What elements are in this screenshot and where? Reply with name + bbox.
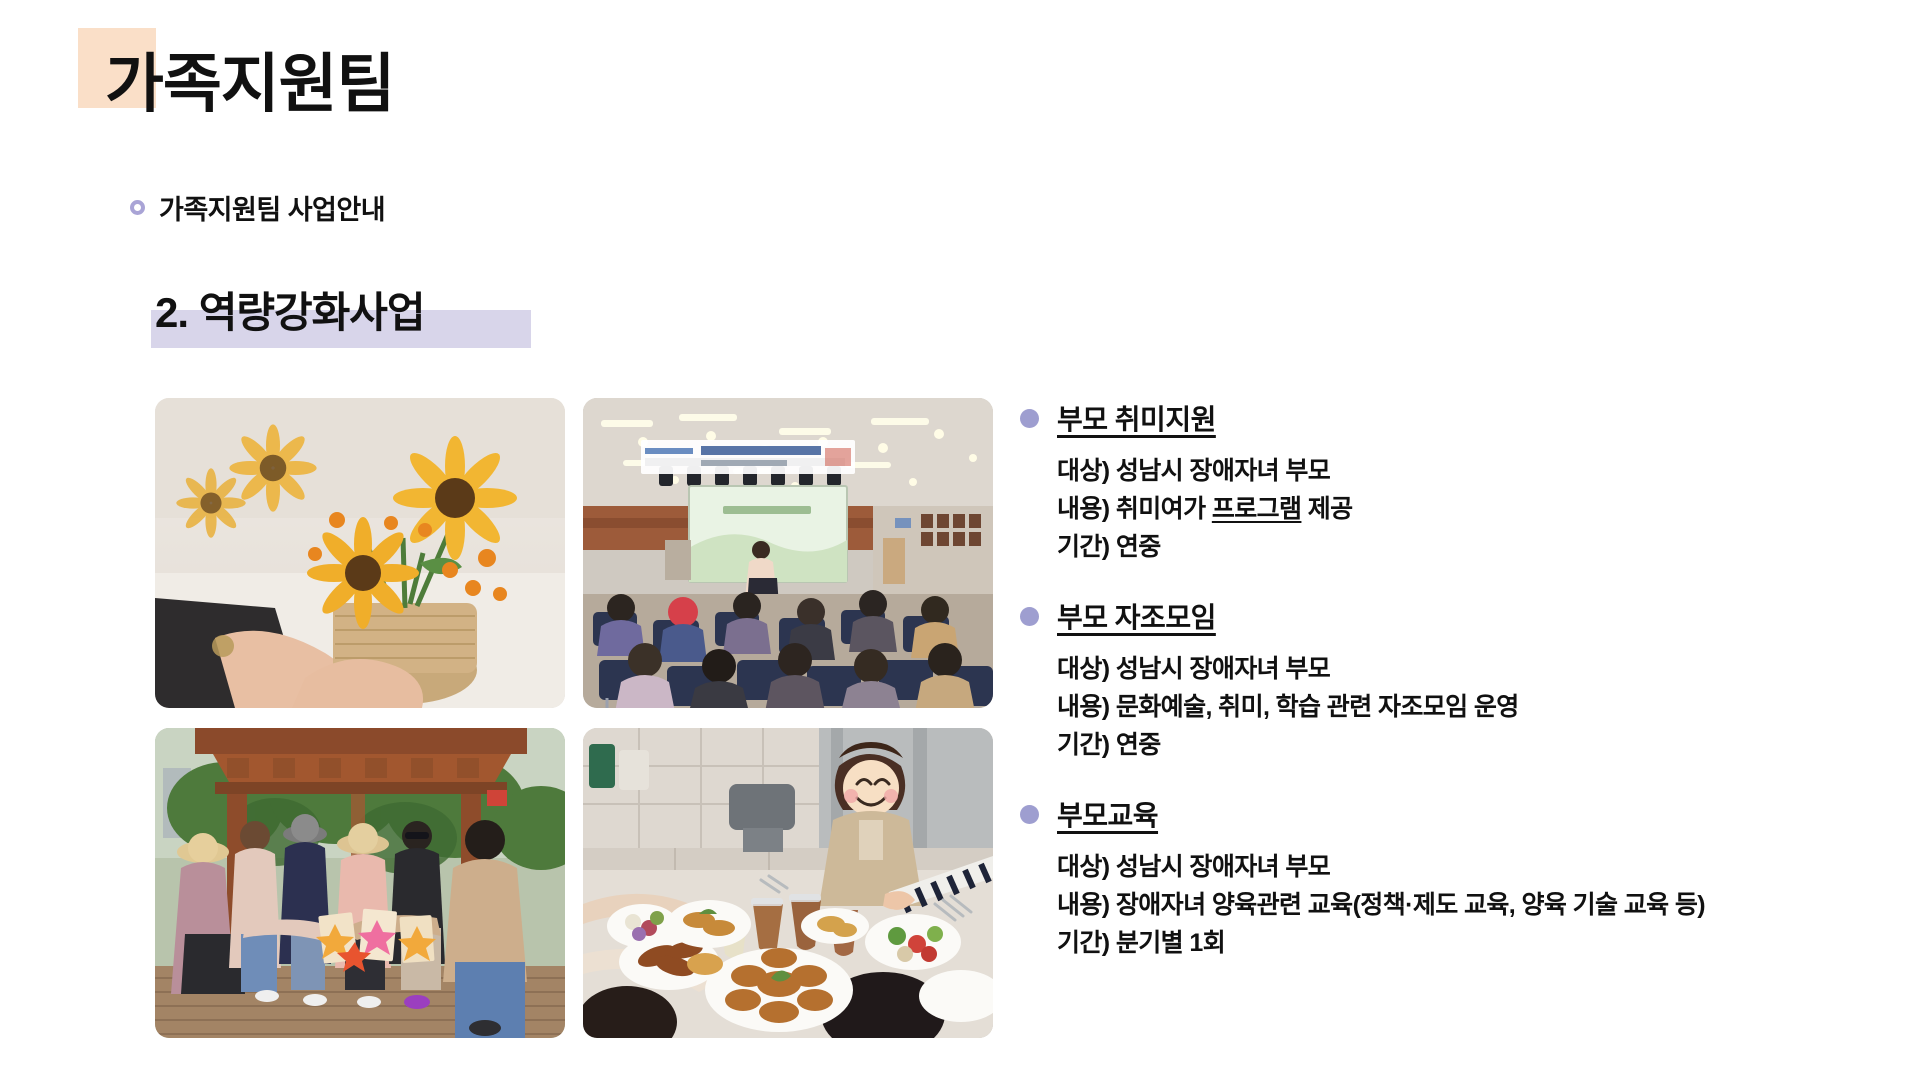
page-title: 가족지원팀 bbox=[105, 51, 394, 118]
program-detail-lines: 대상) 성남시 장애자녀 부모 내용) 장애자녀 양육관련 교육(정책·제도 교… bbox=[1057, 848, 1880, 962]
photo-auditorium-seminar bbox=[583, 398, 993, 708]
program-title: 부모교육 bbox=[1057, 794, 1158, 834]
program-line-target: 대상) 성남시 장애자녀 부모 bbox=[1057, 848, 1880, 886]
program-line-period: 기간) 분기별 1회 bbox=[1057, 924, 1880, 962]
page-subtitle: 가족지원팀 사업안내 bbox=[159, 188, 385, 227]
program-line-content: 내용) 문화예술, 취미, 학습 관련 자조모임 운영 bbox=[1057, 688, 1880, 726]
program-line-content: 내용) 장애자녀 양육관련 교육(정책·제도 교육, 양육 기술 교육 등) bbox=[1057, 886, 1880, 924]
line-suffix: 제공 bbox=[1301, 495, 1352, 523]
program-detail-lines: 대상) 성남시 장애자녀 부모 내용) 문화예술, 취미, 학습 관련 자조모임… bbox=[1057, 650, 1880, 764]
photo-group-meal-gathering bbox=[583, 728, 993, 1038]
program-title: 부모 취미지원 bbox=[1057, 398, 1216, 438]
program-list: 부모 취미지원 대상) 성남시 장애자녀 부모 내용) 취미여가 프로그램 제공… bbox=[1020, 398, 1880, 962]
program-detail-lines: 대상) 성남시 장애자녀 부모 내용) 취미여가 프로그램 제공 기간) 연중 bbox=[1057, 452, 1880, 566]
title-block: 가족지원팀 bbox=[78, 28, 778, 148]
photo-outdoor-pavilion-group-activity bbox=[155, 728, 565, 1038]
line-underlined: 프로그램 bbox=[1212, 495, 1302, 523]
bullet-dot-icon bbox=[1020, 805, 1039, 824]
program-line-period: 기간) 연중 bbox=[1057, 528, 1880, 566]
section-heading: 2. 역량강화사업 bbox=[155, 288, 425, 350]
ring-bullet-icon bbox=[130, 200, 145, 215]
slide-root: 가족지원팀 가족지원팀 사업안내 2. 역량강화사업 bbox=[0, 0, 1920, 1080]
program-line-period: 기간) 연중 bbox=[1057, 726, 1880, 764]
section-title: 2. 역량강화사업 bbox=[155, 288, 425, 338]
photo-sunflower-flower-arranging bbox=[155, 398, 565, 708]
program-header: 부모 자조모임 bbox=[1020, 596, 1880, 636]
program-block-parent-hobby-support: 부모 취미지원 대상) 성남시 장애자녀 부모 내용) 취미여가 프로그램 제공… bbox=[1020, 398, 1880, 566]
program-title: 부모 자조모임 bbox=[1057, 596, 1216, 636]
program-block-parent-self-help-group: 부모 자조모임 대상) 성남시 장애자녀 부모 내용) 문화예술, 취미, 학습… bbox=[1020, 596, 1880, 764]
program-block-parent-education: 부모교육 대상) 성남시 장애자녀 부모 내용) 장애자녀 양육관련 교육(정책… bbox=[1020, 794, 1880, 962]
program-line-target: 대상) 성남시 장애자녀 부모 bbox=[1057, 650, 1880, 688]
program-line-content: 내용) 취미여가 프로그램 제공 bbox=[1057, 490, 1880, 528]
bullet-dot-icon bbox=[1020, 409, 1039, 428]
program-header: 부모 취미지원 bbox=[1020, 398, 1880, 438]
program-line-target: 대상) 성남시 장애자녀 부모 bbox=[1057, 452, 1880, 490]
subtitle-row: 가족지원팀 사업안내 bbox=[130, 188, 385, 227]
program-header: 부모교육 bbox=[1020, 794, 1880, 834]
line-prefix: 내용) 취미여가 bbox=[1057, 495, 1212, 523]
bullet-dot-icon bbox=[1020, 607, 1039, 626]
photo-grid bbox=[155, 398, 995, 1058]
